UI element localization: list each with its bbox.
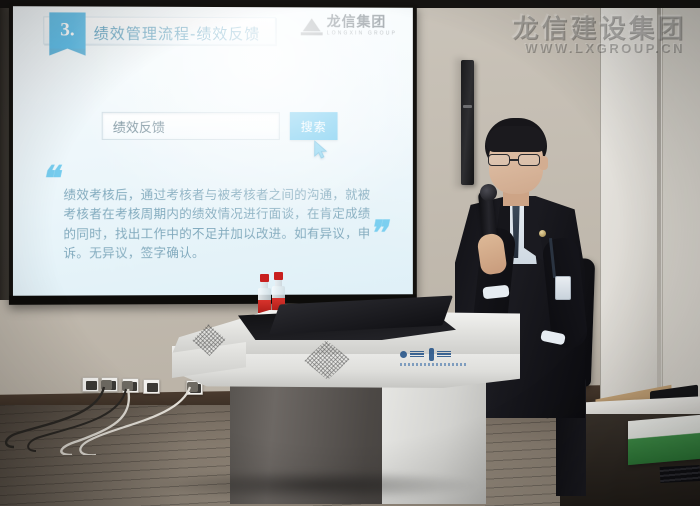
search-input[interactable]	[102, 112, 280, 140]
lapel-pin-icon	[539, 230, 546, 237]
glasses-icon	[488, 154, 545, 167]
mountain-triangle-icon	[301, 17, 323, 35]
search-button[interactable]: 搜索	[290, 112, 338, 140]
slide-content: 3. 绩效管理流程-绩效反馈 龙信集团 LONGXIN GROUP 搜索	[13, 6, 413, 296]
podium-logo-dot-icon	[400, 351, 407, 358]
slide-body-text: 绩效考核后，通过考核者与被考核者之间的沟通，就被考核者在考核周期内的绩效情况进行…	[63, 185, 375, 263]
wall-panel-right	[600, 0, 662, 420]
presentation-photo-scene: 3. 绩效管理流程-绩效反馈 龙信集团 LONGXIN GROUP 搜索	[0, 0, 700, 506]
quote-open-mark: ❝	[40, 162, 63, 196]
presenter-hair-front	[486, 126, 546, 152]
rods-bundle	[660, 465, 700, 483]
podium-floor-shadow	[150, 470, 480, 500]
podium-logo-lines-icon	[410, 351, 424, 358]
projection-screen-surface: 3. 绩效管理流程-绩效反馈 龙信集团 LONGXIN GROUP 搜索	[13, 6, 413, 296]
green-product-box	[628, 415, 700, 465]
podium-logo-subtext	[400, 363, 466, 366]
podium-logo-lines-icon	[437, 351, 451, 358]
slide-section-number: 3.	[49, 12, 85, 48]
watermark-url: WWW.LXGROUP.CN	[524, 40, 684, 55]
slide-logo-en: LONGXIN GROUP	[327, 31, 397, 36]
wall-panel-seam	[657, 0, 661, 420]
podium-logo-figure-icon	[429, 348, 434, 361]
projection-screen: 3. 绩效管理流程-绩效反馈 龙信集团 LONGXIN GROUP 搜索	[9, 3, 417, 305]
id-badge	[555, 276, 571, 300]
wall-panel-far-right	[662, 0, 700, 420]
podium-logo	[400, 344, 470, 364]
slide-logo-cn: 龙信集团	[327, 15, 397, 29]
slide-search-row: 搜索	[102, 112, 338, 140]
slide-logo: 龙信集团 LONGXIN GROUP	[301, 15, 397, 36]
slide-title: 绩效管理流程-绩效反馈	[94, 23, 261, 45]
